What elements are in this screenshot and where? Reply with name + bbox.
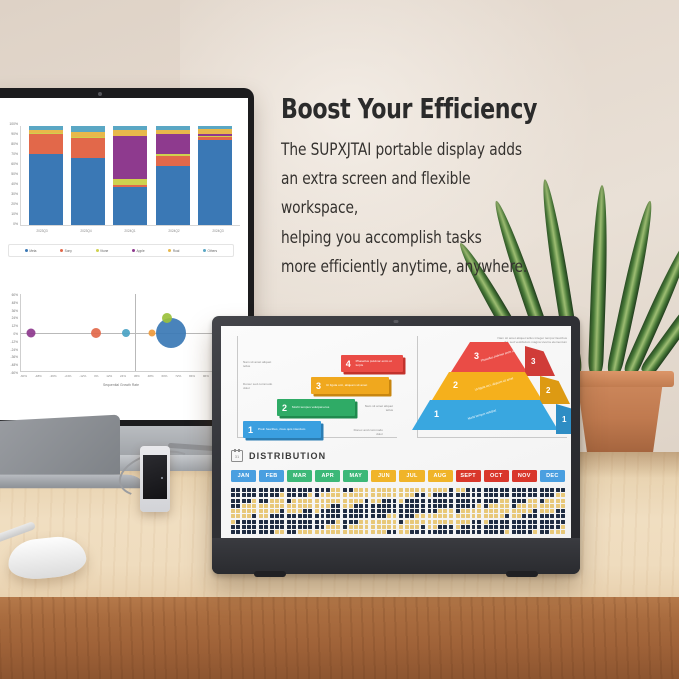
dot [231,504,235,508]
dot [393,488,397,492]
dot [321,504,325,508]
dot [326,520,330,524]
dot [331,509,335,513]
dot [472,514,476,518]
dot [252,514,256,518]
dot [336,525,340,529]
dot [259,493,263,497]
dot [421,493,425,497]
dot [371,530,375,534]
dot [242,488,246,492]
dot [371,488,375,492]
dot [275,514,279,518]
dot [275,488,279,492]
dot [326,509,330,513]
dot [533,493,537,497]
dot [303,504,307,508]
dot [321,525,325,529]
dot [303,488,307,492]
dot [371,514,375,518]
dot [371,509,375,513]
dot [449,509,453,513]
pyramid-level-number: 2 [453,380,458,390]
dot [410,520,414,524]
dot-grid [343,488,368,534]
dot [540,520,544,524]
pyramid-level-2[interactable]: 2Ut ligula orci, aliquam sit amet [432,372,542,400]
dot [461,520,465,524]
dot [494,488,498,492]
dot [298,493,302,497]
dot [545,514,549,518]
dot [489,520,493,524]
pyramid-level-number-side: 1 [562,415,566,424]
dot [308,499,312,503]
dot [236,530,240,534]
dot-grid [231,488,256,534]
dot [252,525,256,529]
dot [415,514,419,518]
dot [331,514,335,518]
dot [270,530,274,534]
month-tab-mar[interactable]: MAR [287,470,312,482]
dot [433,525,437,529]
dot [242,530,246,534]
dot [550,493,554,497]
dot [405,525,409,529]
bubble-point [156,318,186,348]
dot [500,520,504,524]
dot-grid [315,488,340,534]
dot [461,525,465,529]
dot [354,514,358,518]
dot [252,499,256,503]
dot [331,530,335,534]
dot [359,504,363,508]
y-tick-label: 70% [11,153,18,156]
dot [466,525,470,529]
dot [359,530,363,534]
dot [505,520,509,524]
dot [393,509,397,513]
dot [308,525,312,529]
month-tab-sept[interactable]: SEPT [456,470,481,482]
dot-grid [540,488,565,534]
dot [275,520,279,524]
dot [494,525,498,529]
y-tick-label: 10% [11,213,18,216]
legend-item[interactable]: Others [203,249,217,253]
dot [540,504,544,508]
dot [264,514,268,518]
dot [236,488,240,492]
dot [349,504,353,508]
legend-item[interactable]: Meta [25,249,37,253]
dot [421,520,425,524]
dot [449,520,453,524]
dot [387,499,391,503]
dot [349,499,353,503]
dot [484,499,488,503]
dot [540,493,544,497]
dot [472,520,476,524]
dot [489,530,493,534]
legend-swatch-icon [132,249,135,252]
dot [359,499,363,503]
dot [410,530,414,534]
smartphone-indicator-icon [161,477,163,479]
dot [326,499,330,503]
step-block-4[interactable]: 4Phasellus pulvinar enim ut turpis [341,355,403,372]
x-tick-label: 12% [106,374,112,378]
step-block-3[interactable]: 3Ut ligula orci, aliquam sit amet [311,377,389,394]
dot [377,493,381,497]
dot [500,509,504,513]
dot [561,520,565,524]
dot-grid [512,488,537,534]
dot [477,530,481,534]
plant-pot-rim [566,371,674,387]
dot [393,493,397,497]
dot [287,509,291,513]
dot [399,530,403,534]
dot [415,488,419,492]
month-tab-oct[interactable]: OCT [484,470,509,482]
dot [326,504,330,508]
dot [522,530,526,534]
dot [512,514,516,518]
dot [326,514,330,518]
dot [522,499,526,503]
dot [365,509,369,513]
dot [443,514,447,518]
x-tick-label: 96% [203,374,209,378]
y-tick-label: 100% [9,123,18,126]
dot [550,520,554,524]
step-block-2[interactable]: 2Morbi tempus volutpat eros [277,399,355,416]
dot [331,520,335,524]
y-tick-label: 50% [11,173,18,176]
x-tick-label: 48% [148,374,154,378]
dot [399,504,403,508]
dot [308,488,312,492]
dot [331,525,335,529]
dot [545,509,549,513]
dot [354,499,358,503]
dot [315,520,319,524]
dot [415,504,419,508]
dot [252,504,256,508]
bubble-point [122,329,130,337]
pyramid-level-3[interactable]: 3Phasellus pulvinar enim ut turpis [451,342,527,372]
product-scene: 0%10%20%30%40%50%60%70%80%90%100% 2023Q3… [0,0,679,679]
dot [461,493,465,497]
dot [494,530,498,534]
dot [359,520,363,524]
dot [382,530,386,534]
month-tab-apr[interactable]: APR [315,470,340,482]
y-tick-label: 40% [11,183,18,186]
dot [477,509,481,513]
dot [428,509,432,513]
dot [428,525,432,529]
bar-segment [71,138,105,158]
webcam-icon [394,320,399,323]
dot [292,504,296,508]
dot [315,493,319,497]
month-tab-jul[interactable]: JUL [399,470,424,482]
portable-monitor-body: 1Proin faucibus, risus quis interdumDone… [212,316,580,574]
dot [336,530,340,534]
dot [371,504,375,508]
dot [331,488,335,492]
dot [280,499,284,503]
dot [343,504,347,508]
dot [410,488,414,492]
dot [354,509,358,513]
dot [428,504,432,508]
legend-item[interactable]: Roal [168,249,179,253]
dot [505,509,509,513]
y-tick-label: 30% [11,193,18,196]
marketing-line: The SUPXJTAI portable display adds [281,136,551,165]
dot [377,514,381,518]
month-tab-aug[interactable]: AUG [428,470,453,482]
dot [343,499,347,503]
dot [387,504,391,508]
y-tick-label: 90% [11,133,18,136]
dot [561,493,565,497]
dot [303,509,307,513]
dot [280,520,284,524]
dot [561,525,565,529]
dot [331,493,335,497]
dot [399,525,403,529]
distribution-dot-grids [231,488,565,534]
dot [298,514,302,518]
pyramid-level-1[interactable]: 1Morbi tempus volutpat [412,400,558,430]
dot [415,530,419,534]
bar-chart-y-axis: 0%10%20%30%40%50%60%70%80%90%100% [0,126,18,226]
dot [377,525,381,529]
dot [556,493,560,497]
y-tick-label: -60% [11,372,18,375]
dot [387,509,391,513]
x-tick-label: 0% [94,374,98,378]
dot [443,493,447,497]
dot [500,493,504,497]
dot [270,493,274,497]
dot [371,525,375,529]
dot [561,504,565,508]
dot [280,493,284,497]
dot [449,499,453,503]
dot [545,499,549,503]
dot [259,530,263,534]
dot [270,509,274,513]
step-note: Nam sit amet aliquet tellus [359,404,393,412]
dot [489,514,493,518]
x-tick-label: 60% [161,374,167,378]
bar-segment [113,136,147,180]
portable-monitor-foot [506,571,538,577]
dot [472,488,476,492]
dot [561,530,565,534]
dot [456,530,460,534]
dot [365,514,369,518]
month-tab-may[interactable]: MAY [343,470,368,482]
dot [336,488,340,492]
dot [387,530,391,534]
webcam-icon [98,92,102,96]
dot [533,520,537,524]
bar-chart-x-axis: 2023Q32023Q42024Q12024Q22024Q3 [20,229,240,233]
x-tick-label: 2024Q1 [124,229,135,233]
dot [242,493,246,497]
dot [421,504,425,508]
legend-item[interactable]: Vtune [96,249,109,253]
dot [405,488,409,492]
dot [382,504,386,508]
legend-label: Apple [137,249,145,253]
dot [336,514,340,518]
month-tab-feb[interactable]: FEB [259,470,284,482]
y-tick-label: -48% [11,364,18,367]
dot [259,520,263,524]
step-note: Nam sit amet aliquet tellus [243,360,277,368]
dot [264,509,268,513]
dot [456,499,460,503]
dot [298,520,302,524]
dot [433,493,437,497]
legend-swatch-icon [168,249,171,252]
dot [505,499,509,503]
dot [382,525,386,529]
legend-item[interactable]: Apple [132,249,145,253]
bubble-point [26,328,35,337]
dot [484,504,488,508]
dot [399,514,403,518]
dot-grid [399,488,424,534]
dot [321,520,325,524]
dot [540,525,544,529]
x-tick-label: 2024Q2 [168,229,179,233]
dot [287,499,291,503]
dot [410,514,414,518]
dot [456,520,460,524]
dot [466,514,470,518]
bubble-point [91,328,101,338]
dot [336,509,340,513]
dot [231,488,235,492]
dot [264,488,268,492]
dot [428,488,432,492]
dot [410,504,414,508]
laptop-lid [0,415,120,482]
month-tab-jun[interactable]: JUN [371,470,396,482]
dot [421,530,425,534]
dot [456,504,460,508]
dot [275,530,279,534]
step-block-1[interactable]: 1Proin faucibus, risus quis interdum [243,421,321,438]
distribution-title: DISTRIBUTION [249,451,326,461]
dot [466,530,470,534]
dot [303,525,307,529]
dot [477,504,481,508]
dot [500,504,504,508]
dot [331,504,335,508]
dot [231,520,235,524]
step-label: Phasellus pulvinar enim ut turpis [356,360,403,368]
dot [292,514,296,518]
pyramid-level-label: Phasellus pulvinar enim ut turpis [480,346,525,363]
dot [242,509,246,513]
dot [517,514,521,518]
month-tab-jan[interactable]: JAN [231,470,256,482]
dot [484,520,488,524]
portable-monitor-foot [254,571,286,577]
dot [500,525,504,529]
dot [512,504,516,508]
dot [354,520,358,524]
dot [303,514,307,518]
dot [477,493,481,497]
dot [522,525,526,529]
dot [399,493,403,497]
bar-column [71,126,105,225]
dot [405,509,409,513]
dot [528,525,532,529]
dot [415,499,419,503]
dot [528,499,532,503]
dot [438,509,442,513]
dot [512,509,516,513]
dot [349,509,353,513]
dot [259,525,263,529]
month-tab-row[interactable]: JANFEBMARAPRMAYJUNJULAUGSEPTOCTNOVDEC [231,470,565,482]
y-tick-label: 60% [11,163,18,166]
distribution-section: 31 DISTRIBUTION JANFEBMARAPRMAYJUNJULAUG… [231,450,565,534]
step-label: Proin faucibus, risus quis interdum [258,428,309,432]
page-title: Boost Your Efficiency [281,92,545,125]
dot [242,520,246,524]
dot [298,499,302,503]
dot [231,514,235,518]
dot [242,514,246,518]
dot [405,514,409,518]
dot-grid [287,488,312,534]
dot [292,520,296,524]
dot [359,488,363,492]
portable-monitor-chin [212,538,580,574]
legend-item[interactable]: Sony [60,249,72,253]
dot [517,499,521,503]
dot [456,525,460,529]
dot [242,525,246,529]
dot [365,504,369,508]
dot [236,499,240,503]
dot [415,525,419,529]
dot [298,509,302,513]
dot [494,514,498,518]
dot [264,504,268,508]
distribution-header: 31 DISTRIBUTION [231,450,565,462]
month-tab-nov[interactable]: NOV [512,470,537,482]
month-tab-dec[interactable]: DEC [540,470,565,482]
dot [280,509,284,513]
dot [287,504,291,508]
legend-swatch-icon [25,249,28,252]
